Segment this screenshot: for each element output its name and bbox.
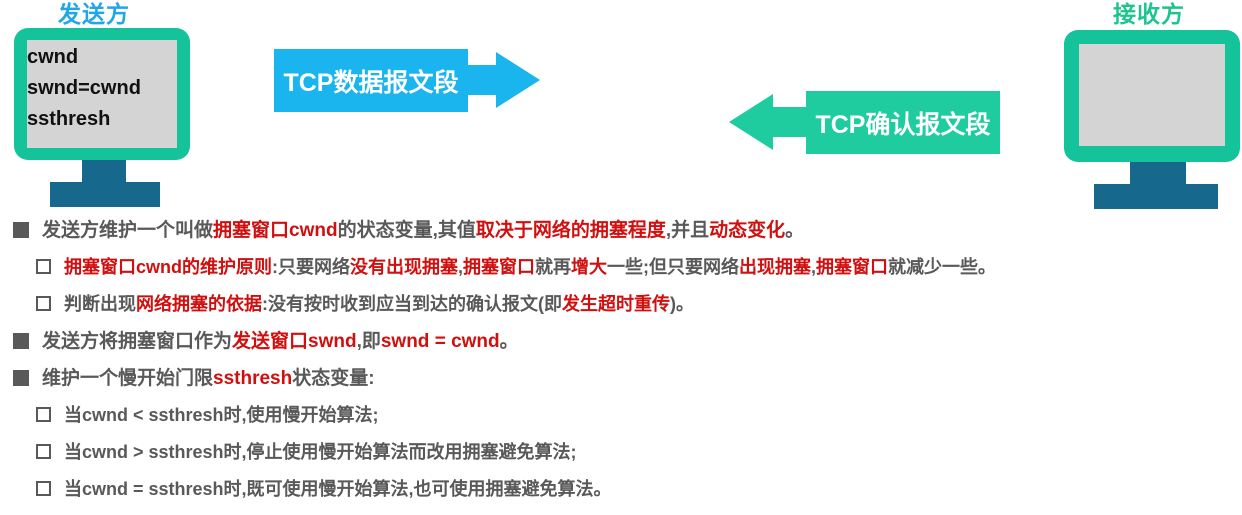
filled-square-icon <box>13 333 29 349</box>
highlighted-text: 动态变化 <box>709 220 785 241</box>
plain-text: 发送方将拥塞窗口作为 <box>42 331 232 352</box>
highlighted-text: 拥塞窗口cwnd <box>213 220 338 241</box>
hollow-square-icon <box>36 481 51 496</box>
bullet-text: 判断出现网络拥塞的依据:没有按时收到应当到达的确认报文(即发生超时重传)。 <box>64 288 694 321</box>
plain-text: :没有按时收到应当到达的确认报文(即 <box>262 294 562 314</box>
highlighted-text: 拥塞窗口cwnd的维护原则 <box>64 257 272 277</box>
hollow-square-icon <box>36 444 51 459</box>
bullet-row: 当cwnd = ssthresh时,既可使用慢开始算法,也可使用拥塞避免算法。 <box>0 473 1242 510</box>
tcp-ack-segment-arrow: TCP确认报文段 <box>729 91 1000 154</box>
bullet-text: 当cwnd = ssthresh时,既可使用慢开始算法,也可使用拥塞避免算法。 <box>64 473 612 506</box>
plain-text: 判断出现 <box>64 294 136 314</box>
sender-var-swnd: swnd=cwnd <box>27 73 177 104</box>
bullet-row: 当cwnd < ssthresh时,使用慢开始算法; <box>0 399 1242 436</box>
bullet-text: 发送方将拥塞窗口作为发送窗口swnd,即swnd = cwnd。 <box>42 325 519 358</box>
plain-text: 。 <box>500 331 519 352</box>
bullet-row: 发送方将拥塞窗口作为发送窗口swnd,即swnd = cwnd。 <box>0 325 1242 362</box>
filled-square-icon <box>13 370 29 386</box>
plain-text: :只要网络 <box>272 257 350 277</box>
data-arrow-head-right-icon <box>496 52 540 108</box>
bullet-text: 拥塞窗口cwnd的维护原则:只要网络没有出现拥塞,拥塞窗口就再增大一些;但只要网… <box>64 251 996 284</box>
ack-arrow-head-left-icon <box>729 94 773 150</box>
sender-var-ssthresh: ssthresh <box>27 104 177 135</box>
plain-text: ,即 <box>357 331 381 352</box>
highlighted-text: 取决于网络的拥塞程度 <box>476 220 666 241</box>
highlighted-text: swnd = cwnd <box>381 331 500 352</box>
highlighted-text: 没有出现拥塞 <box>350 257 458 277</box>
sender-label: 发送方 <box>58 3 130 26</box>
hollow-square-icon <box>36 259 51 274</box>
plain-text: 维护一个慢开始门限 <box>42 368 213 389</box>
hollow-square-icon <box>36 407 51 422</box>
receiver-monitor-screen <box>1079 44 1225 146</box>
ack-arrow-shaft <box>771 107 811 137</box>
plain-text: 当cwnd = ssthresh时,既可使用慢开始算法,也可使用拥塞避免算法。 <box>64 479 612 499</box>
receiver-computer-icon <box>1064 30 1240 200</box>
sender-var-cwnd: cwnd <box>27 42 177 73</box>
bullet-row: 判断出现网络拥塞的依据:没有按时收到应当到达的确认报文(即发生超时重传)。 <box>0 288 1242 325</box>
highlighted-text: 增大 <box>571 257 607 277</box>
bullet-list: 发送方维护一个叫做拥塞窗口cwnd的状态变量,其值取决于网络的拥塞程度,并且动态… <box>0 214 1242 510</box>
sender-screen-variables: cwnd swnd=cwnd ssthresh <box>27 42 177 135</box>
plain-text: 就减少一些。 <box>888 257 996 277</box>
highlighted-text: 发送窗口swnd <box>232 331 357 352</box>
plain-text: ,并且 <box>666 220 709 241</box>
bullet-text: 当cwnd > ssthresh时,停止使用慢开始算法而改用拥塞避免算法; <box>64 436 577 469</box>
bullet-row: 维护一个慢开始门限ssthresh状态变量: <box>0 362 1242 399</box>
highlighted-text: 拥塞窗口 <box>463 257 535 277</box>
bullet-text: 当cwnd < ssthresh时,使用慢开始算法; <box>64 399 379 432</box>
receiver-label: 接收方 <box>1113 3 1185 26</box>
tcp-data-segment-arrow: TCP数据报文段 <box>274 49 540 112</box>
highlighted-text: 拥塞窗口 <box>816 257 888 277</box>
highlighted-text: 网络拥塞的依据 <box>136 294 262 314</box>
plain-text: 一些;但只要网络 <box>607 257 739 277</box>
plain-text: )。 <box>670 294 694 314</box>
highlighted-text: 出现拥塞 <box>739 257 811 277</box>
tcp-congestion-diagram: 发送方 cwnd swnd=cwnd ssthresh TCP数据报文段 TCP… <box>0 0 1242 212</box>
receiver-monitor-base <box>1094 184 1218 209</box>
plain-text: 发送方维护一个叫做 <box>42 220 213 241</box>
highlighted-text: ssthresh <box>213 368 292 389</box>
plain-text: 就再 <box>535 257 571 277</box>
receiver-monitor-neck <box>1130 162 1186 184</box>
sender-monitor-base <box>50 182 160 207</box>
hollow-square-icon <box>36 296 51 311</box>
sender-monitor-neck <box>82 160 126 182</box>
bullet-row: 当cwnd > ssthresh时,停止使用慢开始算法而改用拥塞避免算法; <box>0 436 1242 473</box>
bullet-text: 发送方维护一个叫做拥塞窗口cwnd的状态变量,其值取决于网络的拥塞程度,并且动态… <box>42 214 804 247</box>
plain-text: 。 <box>785 220 804 241</box>
plain-text: 当cwnd < ssthresh时,使用慢开始算法; <box>64 405 379 425</box>
plain-text: 的状态变量,其值 <box>338 220 476 241</box>
filled-square-icon <box>13 222 29 238</box>
highlighted-text: 发生超时重传 <box>562 294 670 314</box>
bullet-row: 拥塞窗口cwnd的维护原则:只要网络没有出现拥塞,拥塞窗口就再增大一些;但只要网… <box>0 251 1242 288</box>
bullet-row: 发送方维护一个叫做拥塞窗口cwnd的状态变量,其值取决于网络的拥塞程度,并且动态… <box>0 214 1242 251</box>
plain-text: 当cwnd > ssthresh时,停止使用慢开始算法而改用拥塞避免算法; <box>64 442 577 462</box>
tcp-ack-segment-label: TCP确认报文段 <box>806 91 1000 154</box>
plain-text: 状态变量: <box>292 368 374 389</box>
tcp-data-segment-label: TCP数据报文段 <box>274 49 468 112</box>
bullet-text: 维护一个慢开始门限ssthresh状态变量: <box>42 362 375 395</box>
